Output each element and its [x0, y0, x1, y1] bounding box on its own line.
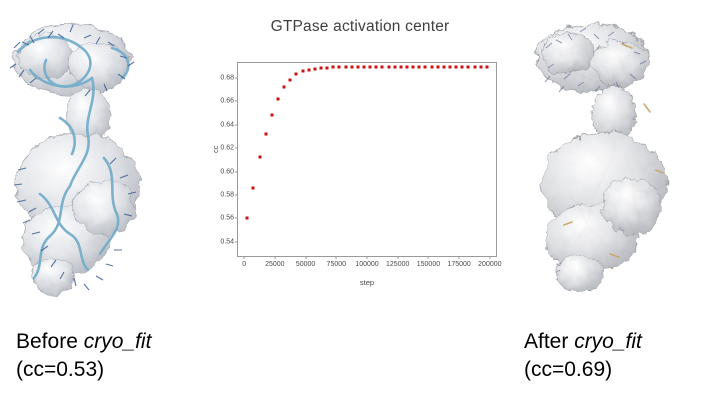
x-tick-label: 75000 [327, 261, 346, 268]
data-point [283, 86, 286, 89]
data-point [442, 65, 445, 68]
x-tick-mark [489, 256, 490, 259]
data-point [252, 186, 255, 189]
data-point [418, 65, 421, 68]
y-tick-mark [235, 194, 238, 195]
data-point [258, 156, 261, 159]
y-tick-mark [235, 101, 238, 102]
data-point [485, 65, 488, 68]
data-point [436, 65, 439, 68]
x-tick-mark [336, 256, 337, 259]
y-tick-mark [235, 171, 238, 172]
y-tick-label: 0.68 [220, 74, 234, 81]
data-point [356, 66, 359, 69]
structure-image-after [524, 8, 714, 318]
data-point [301, 70, 304, 73]
caption-after-program: cryo_fit [574, 330, 642, 353]
x-tick-label: 175000 [447, 261, 470, 268]
y-tick-label: 0.60 [220, 168, 234, 175]
x-tick-label: 200000 [478, 261, 501, 268]
y-tick-label: 0.62 [220, 145, 234, 152]
density-lower-lobe [542, 132, 666, 292]
x-tick-label: 25000 [265, 261, 284, 268]
data-point [264, 132, 267, 135]
caption-before: Before cryo_fit (cc=0.53) [16, 328, 151, 383]
data-point [479, 65, 482, 68]
structure-image-before [0, 8, 190, 318]
data-point [332, 66, 335, 69]
data-point [326, 66, 329, 69]
x-tick-label: 50000 [296, 261, 315, 268]
data-point [381, 65, 384, 68]
y-tick-label: 0.64 [220, 121, 234, 128]
x-tick-label: 0 [242, 261, 246, 268]
plot-area: 0.540.560.580.600.620.640.660.6802500050… [237, 62, 497, 257]
data-point [412, 65, 415, 68]
data-point [455, 65, 458, 68]
y-tick-mark [235, 241, 238, 242]
data-point [405, 65, 408, 68]
data-point [338, 66, 341, 69]
x-tick-mark [305, 256, 306, 259]
x-axis-label: step [237, 278, 497, 287]
x-tick-label: 100000 [355, 261, 378, 268]
data-point [289, 79, 292, 82]
caption-before-cc: (cc=0.53) [16, 356, 151, 384]
data-point [319, 67, 322, 70]
y-tick-label: 0.54 [220, 238, 234, 245]
y-tick-mark [235, 124, 238, 125]
data-point [467, 65, 470, 68]
y-tick-mark [235, 77, 238, 78]
y-axis-label: cc [211, 146, 220, 154]
data-point [246, 217, 249, 220]
data-point [473, 65, 476, 68]
caption-after-cc: (cc=0.69) [524, 356, 642, 384]
data-point [393, 65, 396, 68]
data-point [307, 68, 310, 71]
x-tick-label: 125000 [386, 261, 409, 268]
y-tick-label: 0.56 [220, 215, 234, 222]
y-tick-mark [235, 148, 238, 149]
data-point [344, 66, 347, 69]
data-point [430, 65, 433, 68]
data-point [313, 67, 316, 70]
x-tick-label: 150000 [417, 261, 440, 268]
caption-before-program: cryo_fit [84, 330, 152, 353]
data-point [276, 97, 279, 100]
x-tick-mark [459, 256, 460, 259]
x-tick-mark [274, 256, 275, 259]
chart-title: GTPase activation center [205, 18, 515, 36]
caption-before-prefix: Before [16, 330, 84, 353]
data-point [295, 73, 298, 76]
cc-vs-step-chart: GTPase activation center 0.540.560.580.6… [205, 8, 515, 300]
data-point [270, 114, 273, 117]
data-point [350, 66, 353, 69]
data-point [387, 65, 390, 68]
caption-after-prefix: After [524, 330, 574, 353]
y-tick-label: 0.66 [220, 98, 234, 105]
x-tick-mark [244, 256, 245, 259]
data-point [375, 65, 378, 68]
data-point [362, 66, 365, 69]
x-tick-mark [367, 256, 368, 259]
data-point [369, 65, 372, 68]
density-lower-lobe [16, 134, 140, 294]
data-point [424, 65, 427, 68]
data-point [461, 65, 464, 68]
caption-after: After cryo_fit (cc=0.69) [524, 328, 642, 383]
x-tick-mark [397, 256, 398, 259]
data-point [399, 65, 402, 68]
x-tick-mark [428, 256, 429, 259]
ribosome-density-model-before-svg [0, 8, 190, 318]
data-point [448, 65, 451, 68]
density-upper-lobe [536, 24, 649, 92]
ribosome-density-model-after-svg [524, 8, 714, 318]
y-tick-label: 0.58 [220, 191, 234, 198]
y-tick-mark [235, 218, 238, 219]
